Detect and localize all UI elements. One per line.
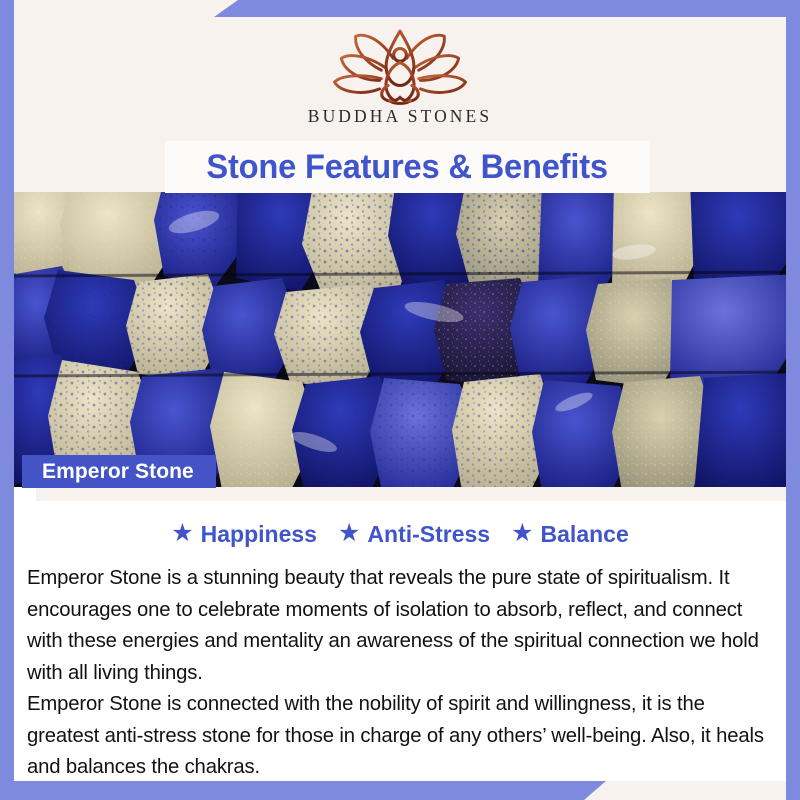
content-panel: ★ Happiness ★ Anti-Stress ★ Balance Empe… bbox=[14, 487, 786, 781]
brand-name: BUDDHA STONES bbox=[308, 106, 492, 127]
frame-right-border bbox=[786, 0, 800, 800]
stone-photo bbox=[14, 192, 786, 487]
benefits-row: ★ Happiness ★ Anti-Stress ★ Balance bbox=[14, 521, 786, 548]
lotus-meditation-icon bbox=[315, 26, 485, 110]
benefit-label: Anti-Stress bbox=[367, 521, 490, 548]
page-title: Stone Features & Benefits bbox=[207, 148, 608, 187]
benefit-item-balance: ★ Balance bbox=[511, 521, 629, 548]
brand-header: BUDDHA STONES bbox=[14, 17, 786, 143]
poster-canvas: BUDDHA STONES bbox=[14, 17, 786, 781]
benefit-item-anti-stress: ★ Anti-Stress bbox=[338, 521, 490, 548]
benefit-label: Happiness bbox=[201, 521, 317, 548]
title-banner: Stone Features & Benefits bbox=[165, 141, 650, 193]
stone-name-tag: Emperor Stone bbox=[22, 455, 216, 488]
stone-name-label: Emperor Stone bbox=[42, 460, 194, 484]
content-top-strip bbox=[36, 487, 786, 501]
benefit-item-happiness: ★ Happiness bbox=[171, 521, 317, 548]
star-icon: ★ bbox=[171, 521, 193, 546]
frame-top-band bbox=[214, 0, 800, 17]
frame-left-border bbox=[0, 0, 14, 800]
frame-bottom-band bbox=[0, 781, 606, 800]
stone-benefits-poster: BUDDHA STONES bbox=[0, 0, 800, 800]
star-icon: ★ bbox=[511, 521, 533, 546]
body-paragraph: Emperor Stone is connected with the nobi… bbox=[27, 689, 779, 781]
benefit-label: Balance bbox=[541, 521, 629, 548]
body-copy: Emperor Stone is a stunning beauty that … bbox=[27, 563, 779, 781]
star-icon: ★ bbox=[338, 521, 360, 546]
body-paragraph: Emperor Stone is a stunning beauty that … bbox=[27, 563, 779, 689]
